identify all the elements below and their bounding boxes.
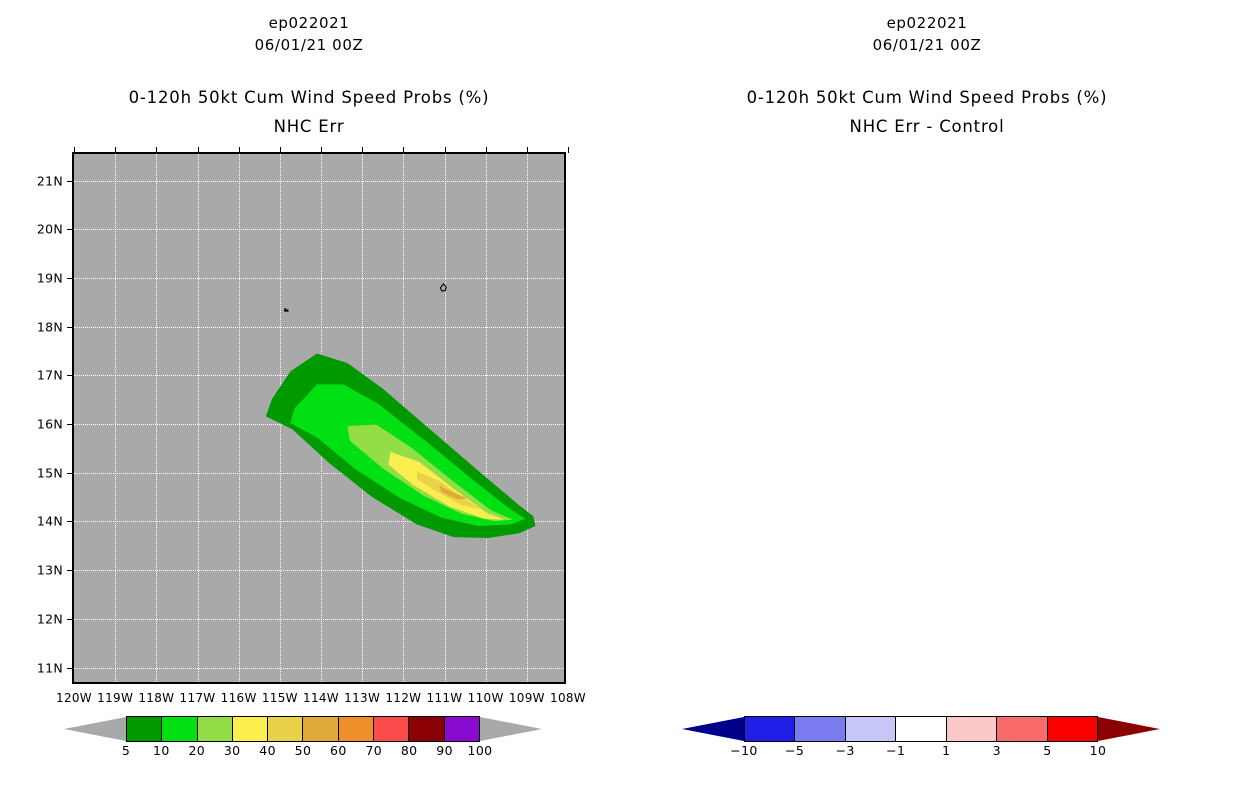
map-plot-left[interactable]: 120W119W118W117W116W115W114W113W112W111W… [72,152,566,684]
y-tick [67,619,73,620]
x-axis-label: 113W [344,691,380,705]
map-clip-left [74,154,564,682]
colorbar-right[interactable]: −10−5−3−113510 [682,716,1160,742]
colorbar-tick-label: 40 [259,743,276,758]
colorbar-min-arrow [64,716,126,742]
storm-id-left: ep022021 [0,14,618,32]
colorbar-tick-label: 1 [942,743,950,758]
y-tick [67,375,73,376]
y-tick [67,668,73,669]
x-axis-label: 114W [303,691,339,705]
colorbar-swatch[interactable] [233,717,268,741]
y-tick [67,424,73,425]
x-axis-label: 116W [221,691,257,705]
x-tick [239,147,240,153]
colorbar-swatch[interactable] [896,717,946,741]
colorbar-swatch[interactable] [198,717,233,741]
colorbar-tick-labels: −10−5−3−113510 [744,743,1098,761]
colorbar-tick-label: 70 [365,743,382,758]
y-axis-label: 18N [37,319,63,334]
storm-id-right: ep022021 [618,14,1236,32]
island-features-left [74,154,564,682]
x-axis-label: 108W [550,691,586,705]
y-tick [67,570,73,571]
colorbar-tick-label: 5 [1043,743,1051,758]
colorbar-tick-label: 90 [436,743,453,758]
colorbar-tick-label: 3 [993,743,1001,758]
colorbar-swatch[interactable] [339,717,374,741]
colorbar-tick-label: 100 [467,743,492,758]
y-tick [67,278,73,279]
x-tick [156,147,157,153]
y-axis-label: 11N [37,660,63,675]
x-axis-label: 120W [56,691,92,705]
colorbar-tick-label: −5 [785,743,804,758]
y-axis-label: 13N [37,563,63,578]
colorbar-tick-label: 80 [401,743,418,758]
y-axis-label: 14N [37,514,63,529]
chart-subtitle-left: NHC Err [0,117,618,136]
x-axis-label: 109W [509,691,545,705]
colorbar-tick-label: 20 [188,743,205,758]
y-axis-label: 19N [37,271,63,286]
x-tick [74,147,75,153]
panel-right: ep022021 06/01/21 00Z 0-120h 50kt Cum Wi… [618,0,1236,800]
colorbar-tick-label: 50 [295,743,312,758]
y-axis-label: 15N [37,465,63,480]
colorbar-swatch[interactable] [745,717,795,741]
colorbar-tick-label: 5 [122,743,130,758]
colorbar-tick-label: 10 [1090,743,1107,758]
y-axis-label: 17N [37,368,63,383]
x-tick [486,147,487,153]
x-tick [568,147,569,153]
colorbar-swatch[interactable] [445,717,479,741]
x-axis-label: 118W [138,691,174,705]
colorbar-swatch[interactable] [846,717,896,741]
colorbar-min-arrow [682,716,744,742]
colorbar-left[interactable]: 5102030405060708090100 [64,716,542,742]
colorbar-max-arrow [480,716,542,742]
san-benedicto-island-icon [284,308,288,311]
colorbar-swatch[interactable] [127,717,162,741]
y-axis-label: 16N [37,417,63,432]
colorbar-swatch[interactable] [795,717,845,741]
socorro-island-icon [440,284,446,291]
x-axis-label: 115W [262,691,298,705]
x-axis-label: 111W [427,691,463,705]
colorbar-swatch[interactable] [303,717,338,741]
colorbar-max-arrow [1098,716,1160,742]
chart-title-right: 0-120h 50kt Cum Wind Speed Probs (%) [618,88,1236,107]
x-tick [115,147,116,153]
colorbar-swatch[interactable] [947,717,997,741]
colorbar-swatches[interactable] [744,716,1098,742]
x-tick [445,147,446,153]
x-tick [321,147,322,153]
x-tick [362,147,363,153]
x-tick [403,147,404,153]
colorbar-swatch[interactable] [268,717,303,741]
y-axis-label: 12N [37,611,63,626]
y-tick [67,229,73,230]
x-tick [527,147,528,153]
colorbar-swatch[interactable] [409,717,444,741]
colorbar-tick-label: 10 [153,743,170,758]
valid-time-left: 06/01/21 00Z [0,36,618,54]
y-tick [67,181,73,182]
colorbar-tick-label: −10 [730,743,758,758]
chart-title-left: 0-120h 50kt Cum Wind Speed Probs (%) [0,88,618,107]
colorbar-swatch[interactable] [162,717,197,741]
valid-time-right: 06/01/21 00Z [618,36,1236,54]
x-axis-label: 112W [385,691,421,705]
colorbar-swatches[interactable] [126,716,480,742]
x-axis-label: 110W [468,691,504,705]
colorbar-tick-label: −1 [886,743,905,758]
y-axis-label: 21N [37,173,63,188]
colorbar-tick-label: 60 [330,743,347,758]
colorbar-swatch[interactable] [1048,717,1097,741]
x-tick [198,147,199,153]
chart-subtitle-right: NHC Err - Control [618,117,1236,136]
colorbar-swatch[interactable] [374,717,409,741]
y-tick [67,327,73,328]
colorbar-tick-labels: 5102030405060708090100 [126,743,480,761]
panel-left: ep022021 06/01/21 00Z 0-120h 50kt Cum Wi… [0,0,618,800]
y-tick [67,473,73,474]
x-axis-label: 119W [97,691,133,705]
colorbar-swatch[interactable] [997,717,1047,741]
y-tick [67,521,73,522]
colorbar-tick-label: −3 [836,743,855,758]
colorbar-tick-label: 30 [224,743,241,758]
x-tick [280,147,281,153]
x-axis-label: 117W [180,691,216,705]
y-axis-label: 20N [37,222,63,237]
